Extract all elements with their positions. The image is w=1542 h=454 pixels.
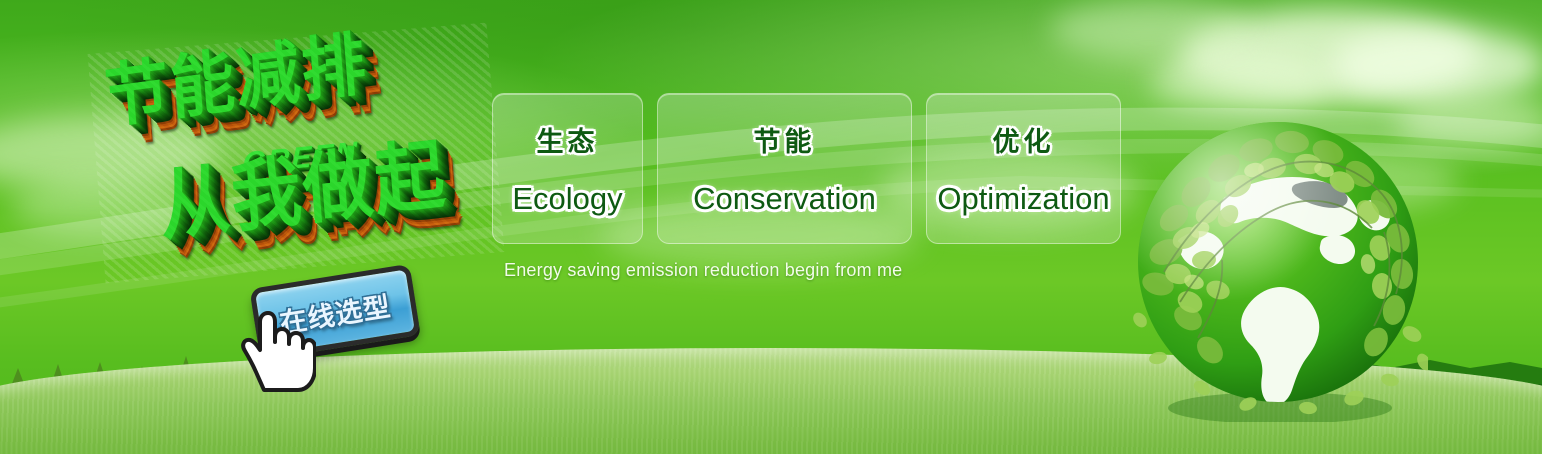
leafy-earth-globe <box>1128 112 1428 422</box>
pointing-hand-cursor-icon <box>238 306 316 392</box>
logo-line-2: 从我做起 <box>157 136 449 245</box>
feature-card-en-label: Optimization <box>937 181 1109 217</box>
feature-card-optimization[interactable]: 优化 Optimization <box>926 93 1121 244</box>
feature-card-ecology[interactable]: 生态 Ecology <box>492 93 643 244</box>
banner-logo: 节能减排 GREEN 从我做起 <box>88 23 505 284</box>
cloud <box>1150 52 1330 112</box>
cloud <box>1180 10 1480 102</box>
online-selection-cta[interactable]: 在线选型 <box>246 272 436 382</box>
feature-card-en-label: Conservation <box>693 181 876 217</box>
eco-banner: 节能减排 GREEN 从我做起 在线选型 生态 Ecology 节能 Conse… <box>0 0 1542 454</box>
cloud <box>1330 28 1542 102</box>
banner-tagline: Energy saving emission reduction begin f… <box>504 260 902 281</box>
logo-line-1: 节能减排 <box>102 29 370 132</box>
feature-card-en-label: Ecology <box>512 181 622 217</box>
feature-card-conservation[interactable]: 节能 Conservation <box>657 93 912 244</box>
feature-card-cn-label: 节能 <box>754 120 816 159</box>
feature-cards: 生态 Ecology 节能 Conservation 优化 Optimizati… <box>492 93 1121 244</box>
feature-card-cn-label: 优化 <box>993 120 1055 159</box>
cloud <box>1050 0 1250 58</box>
feature-card-cn-label: 生态 <box>537 120 599 159</box>
